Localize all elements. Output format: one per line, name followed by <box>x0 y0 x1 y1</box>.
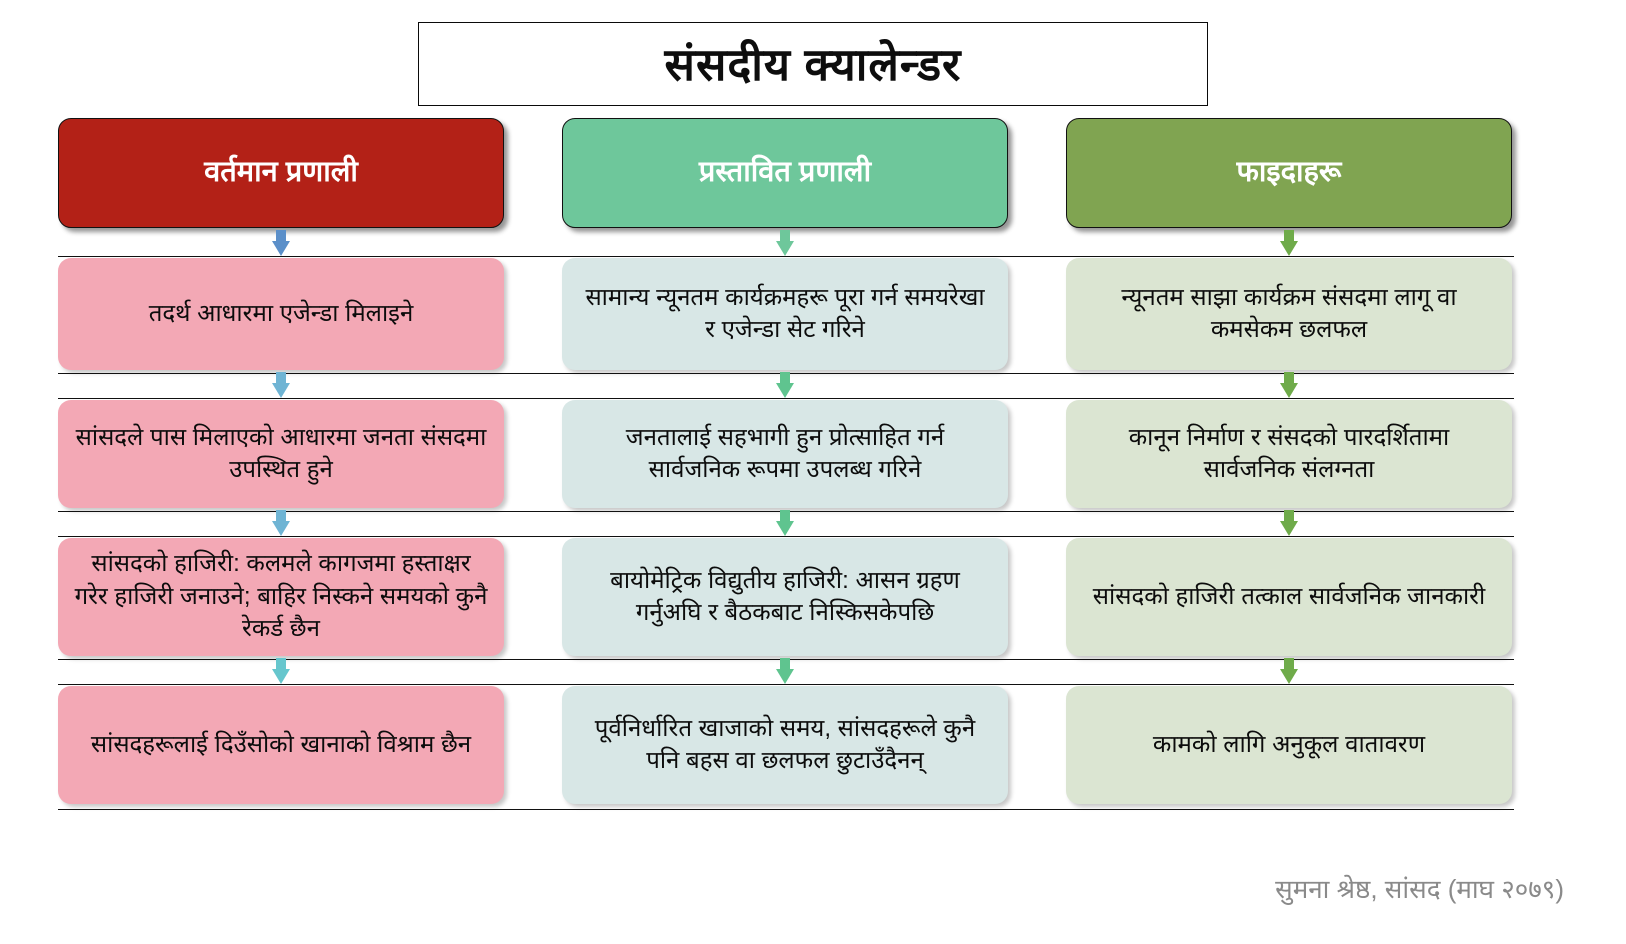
column-headers-row: वर्तमान प्रणाली प्रस्तावित प्रणाली फाइदा… <box>58 118 1514 228</box>
arrow-band-4 <box>58 656 1514 686</box>
content-row-4: सांसदहरूलाई दिउँसोको खानाको विश्राम छैन … <box>58 686 1514 804</box>
cell-current-2-text: सांसदले पास मिलाएको आधारमा जनता संसदमा उ… <box>74 422 488 487</box>
row-divider <box>58 398 1514 399</box>
cell-benefit-3-text: सांसदको हाजिरी तत्काल सार्वजनिक जानकारी <box>1093 581 1485 613</box>
arrow-cell <box>562 508 1008 538</box>
cell-current-3-text: सांसदको हाजिरी: कलमले कागजमा हस्ताक्षर ग… <box>74 548 488 645</box>
cell-wrap: सांसदको हाजिरी तत्काल सार्वजनिक जानकारी <box>1066 538 1512 656</box>
down-arrow-icon <box>1280 510 1298 536</box>
arrow-cell <box>562 228 1008 258</box>
cell-proposed-4-text: पूर्वनिर्धारित खाजाको समय, सांसदहरूले कु… <box>578 713 992 778</box>
column-benefits: फाइदाहरू <box>1066 118 1512 228</box>
down-arrow-icon <box>776 372 794 398</box>
title-box: संसदीय क्यालेन्डर <box>418 22 1208 106</box>
cell-proposed-2-text: जनतालाई सहभागी हुन प्रोत्साहित गर्न सार्… <box>578 422 992 487</box>
arrow-cell <box>1066 370 1512 400</box>
down-arrow-icon <box>1280 372 1298 398</box>
cell-benefit-3[interactable]: सांसदको हाजिरी तत्काल सार्वजनिक जानकारी <box>1066 538 1512 656</box>
row-divider <box>58 536 1514 537</box>
arrow-cell <box>58 508 504 538</box>
column-proposed: प्रस्तावित प्रणाली <box>562 118 1008 228</box>
header-current-system-label: वर्तमान प्रणाली <box>204 156 358 189</box>
row-divider <box>58 256 1514 257</box>
cell-benefit-4[interactable]: कामको लागि अनुकूल वातावरण <box>1066 686 1512 804</box>
cell-wrap: सांसदहरूलाई दिउँसोको खानाको विश्राम छैन <box>58 686 504 804</box>
page-title: संसदीय क्यालेन्डर <box>665 42 962 87</box>
arrow-cell <box>1066 508 1512 538</box>
cell-benefit-1-text: न्यूनतम साझा कार्यक्रम संसदमा लागू वा कम… <box>1082 282 1496 347</box>
down-arrow-icon <box>1280 658 1298 684</box>
title-banner: संसदीय क्यालेन्डर <box>0 22 1626 106</box>
arrow-cell <box>58 370 504 400</box>
down-arrow-icon <box>776 658 794 684</box>
cell-proposed-3-text: बायोमेट्रिक विद्युतीय हाजिरी: आसन ग्रहण … <box>578 565 992 630</box>
cell-benefit-1[interactable]: न्यूनतम साझा कार्यक्रम संसदमा लागू वा कम… <box>1066 258 1512 370</box>
header-proposed-system-label: प्रस्तावित प्रणाली <box>699 156 871 189</box>
down-arrow-icon <box>272 372 290 398</box>
content-row-1: तदर्थ आधारमा एजेन्डा मिलाइने सामान्य न्य… <box>58 258 1514 370</box>
down-arrow-icon <box>272 510 290 536</box>
content-row-2: सांसदले पास मिलाएको आधारमा जनता संसदमा उ… <box>58 400 1514 508</box>
header-benefits-label: फाइदाहरू <box>1237 156 1342 189</box>
cell-current-4-text: सांसदहरूलाई दिउँसोको खानाको विश्राम छैन <box>91 729 471 761</box>
header-benefits[interactable]: फाइदाहरू <box>1066 118 1512 228</box>
comparison-grid: वर्तमान प्रणाली प्रस्तावित प्रणाली फाइदा… <box>58 118 1514 804</box>
arrow-cell <box>1066 656 1512 686</box>
cell-wrap: कानून निर्माण र संसदको पारदर्शितामा सार्… <box>1066 400 1512 508</box>
row-divider <box>58 809 1514 810</box>
cell-benefit-2-text: कानून निर्माण र संसदको पारदर्शितामा सार्… <box>1082 422 1496 487</box>
cell-wrap: जनतालाई सहभागी हुन प्रोत्साहित गर्न सार्… <box>562 400 1008 508</box>
cell-proposed-2[interactable]: जनतालाई सहभागी हुन प्रोत्साहित गर्न सार्… <box>562 400 1008 508</box>
cell-proposed-1[interactable]: सामान्य न्यूनतम कार्यक्रमहरू पूरा गर्न स… <box>562 258 1008 370</box>
author-credit: सुमना श्रेष्ठ, सांसद (माघ २०७९) <box>1275 870 1564 906</box>
cell-current-2[interactable]: सांसदले पास मिलाएको आधारमा जनता संसदमा उ… <box>58 400 504 508</box>
cell-current-4[interactable]: सांसदहरूलाई दिउँसोको खानाको विश्राम छैन <box>58 686 504 804</box>
content-row-3: सांसदको हाजिरी: कलमले कागजमा हस्ताक्षर ग… <box>58 538 1514 656</box>
cell-wrap: सांसदले पास मिलाएको आधारमा जनता संसदमा उ… <box>58 400 504 508</box>
down-arrow-icon <box>272 230 290 256</box>
cell-current-1-text: तदर्थ आधारमा एजेन्डा मिलाइने <box>149 298 414 330</box>
cell-proposed-1-text: सामान्य न्यूनतम कार्यक्रमहरू पूरा गर्न स… <box>578 282 992 347</box>
cell-wrap: सामान्य न्यूनतम कार्यक्रमहरू पूरा गर्न स… <box>562 258 1008 370</box>
cell-current-3[interactable]: सांसदको हाजिरी: कलमले कागजमा हस्ताक्षर ग… <box>58 538 504 656</box>
arrow-band-2 <box>58 370 1514 400</box>
cell-wrap: बायोमेट्रिक विद्युतीय हाजिरी: आसन ग्रहण … <box>562 538 1008 656</box>
cell-wrap: कामको लागि अनुकूल वातावरण <box>1066 686 1512 804</box>
cell-proposed-3[interactable]: बायोमेट्रिक विद्युतीय हाजिरी: आसन ग्रहण … <box>562 538 1008 656</box>
arrow-cell <box>562 656 1008 686</box>
down-arrow-icon <box>1280 230 1298 256</box>
cell-current-1[interactable]: तदर्थ आधारमा एजेन्डा मिलाइने <box>58 258 504 370</box>
arrow-band-1 <box>58 228 1514 258</box>
arrow-cell <box>58 228 504 258</box>
arrow-cell <box>58 656 504 686</box>
column-current: वर्तमान प्रणाली <box>58 118 504 228</box>
cell-proposed-4[interactable]: पूर्वनिर्धारित खाजाको समय, सांसदहरूले कु… <box>562 686 1008 804</box>
cell-benefit-4-text: कामको लागि अनुकूल वातावरण <box>1153 729 1425 761</box>
down-arrow-icon <box>776 230 794 256</box>
down-arrow-icon <box>776 510 794 536</box>
cell-benefit-2[interactable]: कानून निर्माण र संसदको पारदर्शितामा सार्… <box>1066 400 1512 508</box>
row-divider <box>58 684 1514 685</box>
arrow-cell <box>1066 228 1512 258</box>
down-arrow-icon <box>272 658 290 684</box>
cell-wrap: तदर्थ आधारमा एजेन्डा मिलाइने <box>58 258 504 370</box>
cell-wrap: पूर्वनिर्धारित खाजाको समय, सांसदहरूले कु… <box>562 686 1008 804</box>
cell-wrap: सांसदको हाजिरी: कलमले कागजमा हस्ताक्षर ग… <box>58 538 504 656</box>
header-current-system[interactable]: वर्तमान प्रणाली <box>58 118 504 228</box>
header-proposed-system[interactable]: प्रस्तावित प्रणाली <box>562 118 1008 228</box>
arrow-band-3 <box>58 508 1514 538</box>
arrow-cell <box>562 370 1008 400</box>
cell-wrap: न्यूनतम साझा कार्यक्रम संसदमा लागू वा कम… <box>1066 258 1512 370</box>
